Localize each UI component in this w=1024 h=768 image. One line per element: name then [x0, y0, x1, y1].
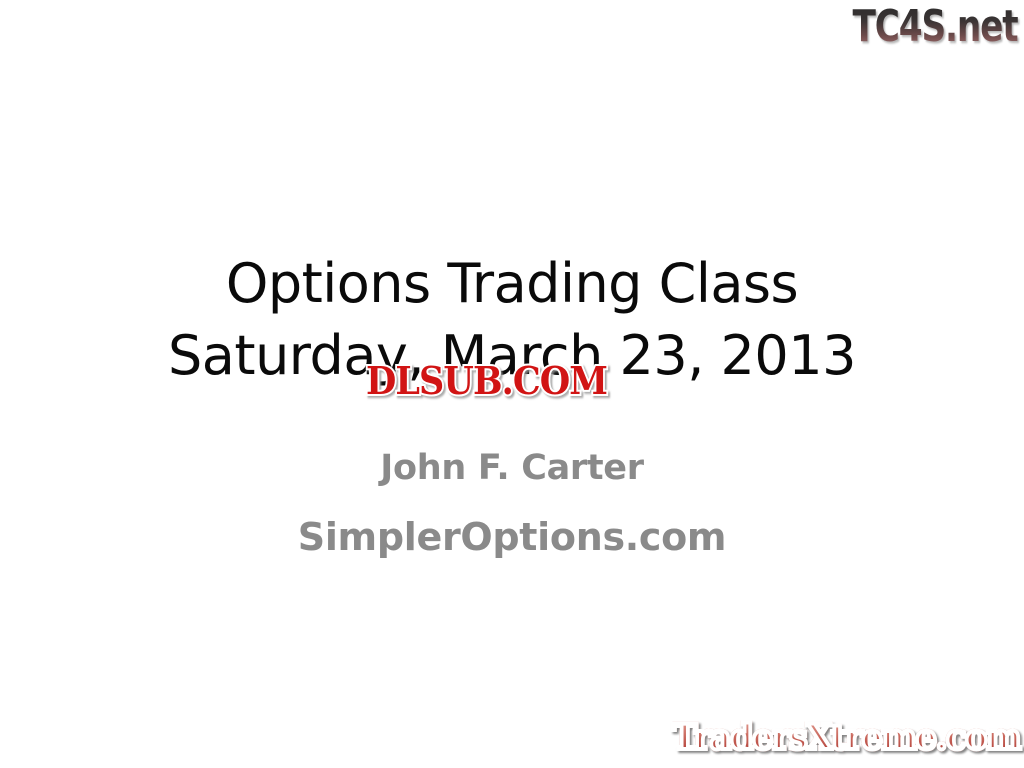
footer-logo-tradersxtreme: TradersXtreme.com [672, 716, 1020, 760]
presenter-website: SimplerOptions.com [0, 506, 1024, 568]
presenter-name: John F. Carter [0, 440, 1024, 496]
watermark-dlsub: DLSUB.COM [366, 359, 656, 403]
subtitle: John F. Carter SimplerOptions.com [0, 440, 1024, 568]
watermark-label: DLSUB.COM [366, 359, 633, 403]
corner-logo-tc4s: TC4S.net [853, 2, 1018, 52]
title-line-1: Options Trading Class [0, 248, 1024, 320]
presentation-slide: TC4S.net Options Trading Class Saturday,… [0, 0, 1024, 768]
